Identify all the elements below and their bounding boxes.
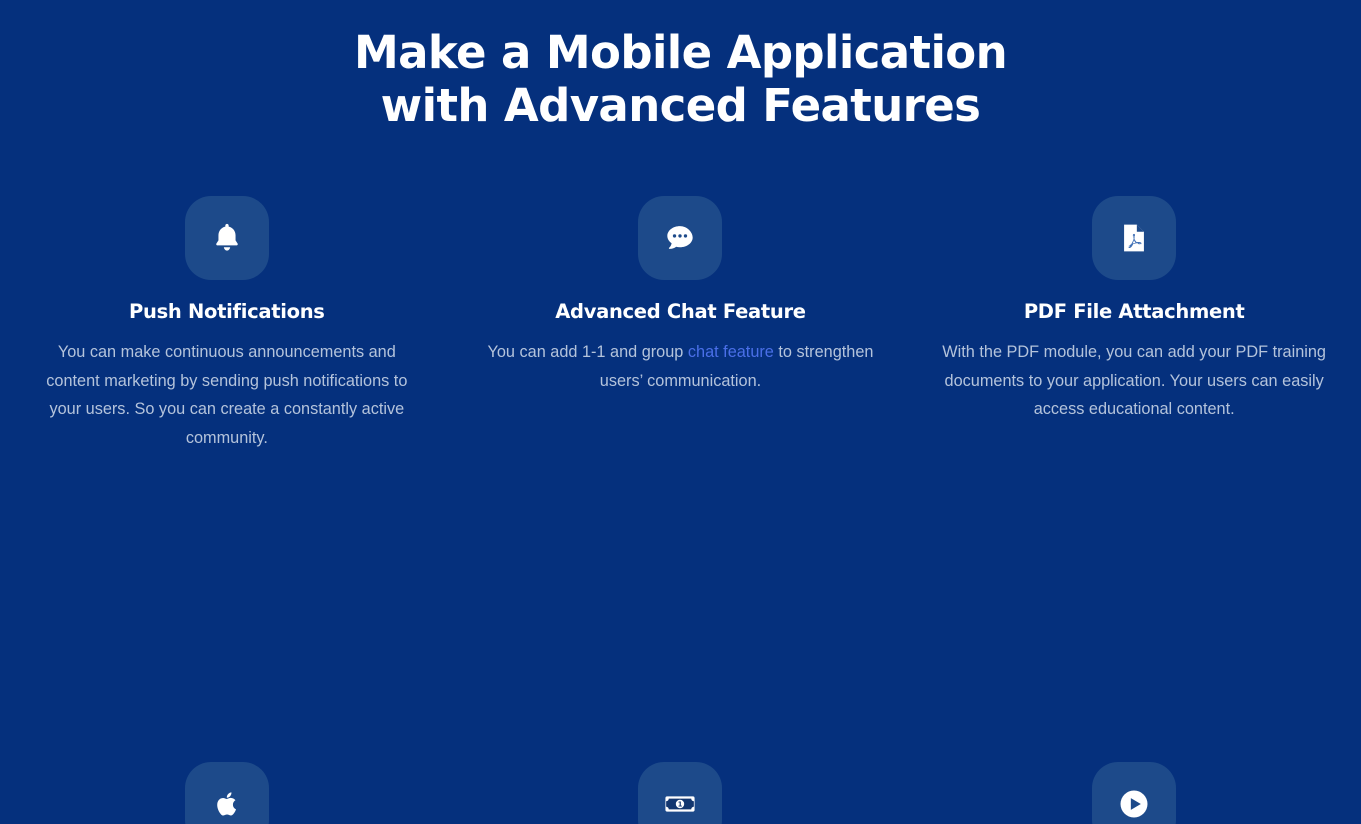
feature-grid: Push Notifications You can make continuo… (0, 196, 1361, 824)
chat-bubble-icon (662, 220, 698, 256)
card-description: With the PDF module, you can add your PD… (937, 338, 1331, 424)
feature-card-android-ios: Android & iOS App You can upload your ap… (0, 762, 454, 824)
icon-tile: 1 (638, 762, 722, 824)
page-title: Make a Mobile Application with Advanced … (0, 26, 1361, 132)
features-section: Make a Mobile Application with Advanced … (0, 0, 1361, 824)
card-title: Advanced Chat Feature (555, 299, 805, 325)
card-title: PDF File Attachment (1024, 299, 1245, 325)
heading-line-1: Make a Mobile Application (354, 26, 1007, 79)
heading-prefix: with (381, 79, 504, 132)
icon-tile (185, 196, 269, 280)
feature-card-push-notifications: Push Notifications You can make continuo… (0, 196, 454, 452)
play-circle-icon (1114, 784, 1154, 824)
feature-card-monetize: 1 Monetize Your App You can generate inc… (454, 762, 908, 824)
banknote-icon: 1 (661, 785, 699, 823)
feature-card-advanced-chat: Advanced Chat Feature You can add 1-1 an… (454, 196, 908, 452)
card-title: Push Notifications (129, 299, 325, 325)
heading-line-2: with Advanced Features (0, 79, 1361, 132)
card-description: You can add 1-1 and group chat feature t… (484, 338, 876, 395)
svg-text:1: 1 (678, 801, 683, 809)
icon-tile (185, 762, 269, 824)
apple-logo-icon (210, 787, 244, 821)
chat-feature-link[interactable]: chat feature (688, 343, 774, 361)
feature-card-pdf-attachment: PDF File Attachment With the PDF module,… (907, 196, 1361, 452)
pdf-file-icon (1117, 221, 1151, 255)
heading-highlight: Advanced Features (504, 79, 981, 132)
icon-tile (638, 196, 722, 280)
feature-card-custom-screen: Advanced Custom Screen You can use the A… (907, 762, 1361, 824)
bell-icon (209, 220, 245, 256)
icon-tile (1092, 762, 1176, 824)
icon-tile (1092, 196, 1176, 280)
row-spacer (0, 452, 1361, 762)
desc-text-before: You can add 1-1 and group (488, 343, 688, 361)
section-heading: Make a Mobile Application with Advanced … (0, 0, 1361, 132)
card-description: You can make continuous announcements an… (33, 338, 421, 452)
